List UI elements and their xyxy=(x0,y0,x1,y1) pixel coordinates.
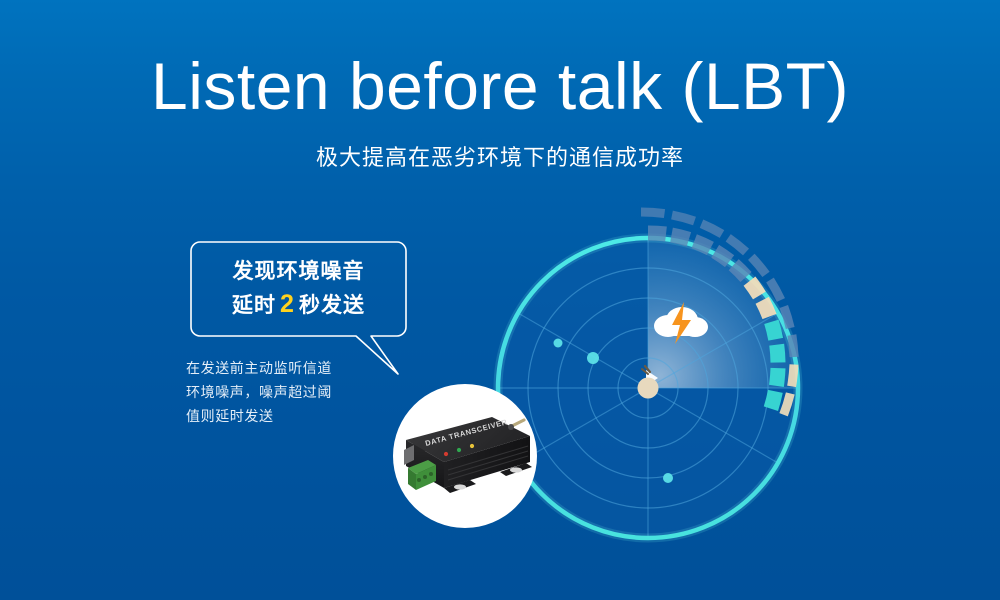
product-photo: DATA TRANSCEIVER xyxy=(384,384,546,530)
description-line-2: 环境噪声，噪声超过阈 xyxy=(186,380,376,404)
lbt-promo-banner: Listen before talk (LBT) 极大提高在恶劣环境下的通信成功… xyxy=(0,0,1000,600)
led-status xyxy=(457,448,461,452)
radar-blip xyxy=(663,473,673,483)
callout-bubble: 发现环境噪音 延时2秒发送 xyxy=(190,241,407,337)
led-link xyxy=(470,444,474,448)
page-subtitle: 极大提高在恶劣环境下的通信成功率 xyxy=(0,142,1000,174)
description-line-1: 在发送前主动监听信道 xyxy=(186,356,376,380)
feature-description: 在发送前主动监听信道 环境噪声，噪声超过阈 值则延时发送 xyxy=(186,356,376,428)
radar-center-dot xyxy=(638,378,659,399)
storm-cloud-icon xyxy=(648,296,714,346)
led-power xyxy=(444,452,448,456)
page-title: Listen before talk (LBT) xyxy=(0,48,1000,124)
description-line-3: 值则延时发送 xyxy=(186,404,376,428)
callout-bubble-outline xyxy=(191,242,406,374)
radar-blip xyxy=(554,339,563,348)
radar-blip xyxy=(587,352,599,364)
